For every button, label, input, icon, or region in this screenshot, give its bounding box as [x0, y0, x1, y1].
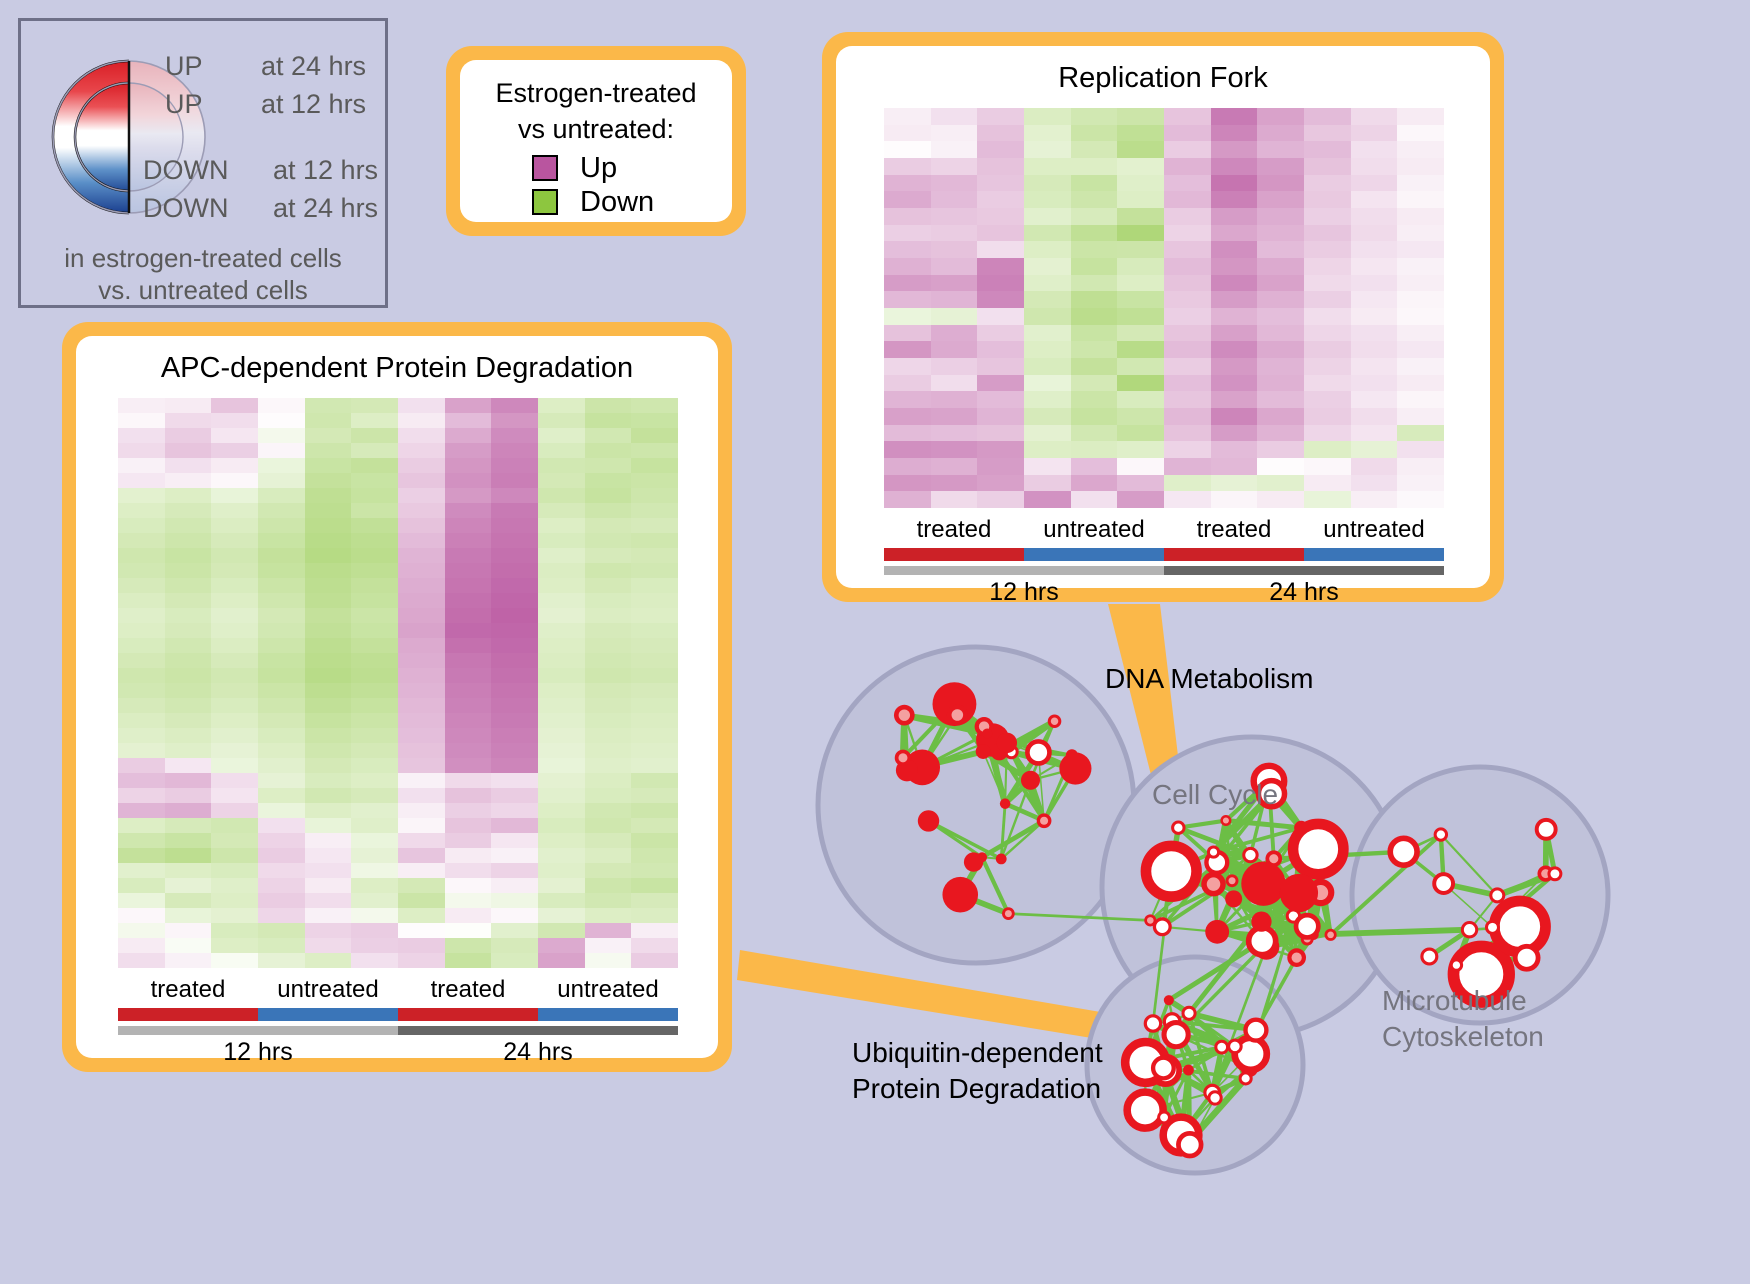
heatmap-cell: [351, 653, 398, 668]
network-node-group: [1390, 838, 1417, 865]
network-node: [1491, 889, 1504, 902]
heatmap-cell: [1071, 408, 1118, 425]
replication-fork-time-labels: 12 hrs 24 hrs: [884, 578, 1444, 607]
heatmap-cell: [1351, 158, 1398, 175]
heatmap-cell: [445, 653, 492, 668]
heatmap-cell: [1117, 175, 1164, 192]
heatmap-cell: [1117, 225, 1164, 242]
heatmap-cell: [1351, 241, 1398, 258]
heatmap-cell: [305, 728, 352, 743]
heatmap-cell: [585, 908, 632, 923]
heatmap-cell: [1164, 225, 1211, 242]
heatmap-cell: [351, 398, 398, 413]
network-node-group: [1048, 714, 1062, 728]
heatmap-cell: [258, 878, 305, 893]
heatmap-cell: [1071, 341, 1118, 358]
heatmap-cell: [258, 488, 305, 503]
heatmap-cell: [398, 668, 445, 683]
network-node: [1183, 1007, 1195, 1019]
heatmap-cell: [631, 518, 678, 533]
heatmap-cell: [398, 743, 445, 758]
heatmap-cell: [398, 728, 445, 743]
apc-bar-treated-12: [118, 1008, 258, 1021]
heatmap-cell: [1071, 475, 1118, 492]
network-node-group: [947, 704, 968, 725]
heatmap-cell: [631, 743, 678, 758]
heatmap-cell: [585, 863, 632, 878]
heatmap-cell: [398, 638, 445, 653]
cluster-label-dna-metabolism: DNA Metabolism: [1105, 663, 1314, 695]
heatmap-cell: [258, 413, 305, 428]
heatmap-cell: [211, 563, 258, 578]
network-node-group: [1422, 949, 1437, 964]
heatmap-cell: [1117, 241, 1164, 258]
network-node: [1451, 960, 1461, 970]
network-node-core: [1005, 910, 1012, 917]
heatmap-cell: [491, 893, 538, 908]
heatmap-cell: [118, 638, 165, 653]
heatmap-cell: [1071, 358, 1118, 375]
heatmap-cell: [1164, 491, 1211, 508]
heatmap-cell: [1351, 391, 1398, 408]
heatmap-cell: [977, 275, 1024, 292]
heatmap-cell: [538, 563, 585, 578]
heatmap-cell: [258, 743, 305, 758]
heatmap-cell: [1164, 308, 1211, 325]
heatmap-cell: [398, 938, 445, 953]
heatmap-cell: [884, 275, 931, 292]
heatmap-cell: [585, 923, 632, 938]
heatmap-cell: [118, 758, 165, 773]
network-node-group: [1159, 1112, 1170, 1123]
network-node-group: [894, 705, 915, 726]
heatmap-cell: [1024, 125, 1071, 142]
heatmap-cell: [1304, 258, 1351, 275]
heatmap-cell: [1164, 375, 1211, 392]
heatmap-cell: [1397, 175, 1444, 192]
network-node-group: [1000, 798, 1011, 809]
heatmap-cell: [1164, 341, 1211, 358]
heatmap-cell: [445, 848, 492, 863]
heatmap-cell: [398, 593, 445, 608]
key-row-0-label: UP: [165, 51, 203, 82]
heatmap-cell: [351, 593, 398, 608]
heatmap-cell: [1164, 458, 1211, 475]
heatmap-cell: [491, 908, 538, 923]
heatmap-cell: [585, 893, 632, 908]
network-node: [1293, 824, 1343, 874]
heatmap-cell: [165, 458, 212, 473]
heatmap-cell: [931, 241, 978, 258]
heatmap-cell: [1257, 275, 1304, 292]
network-node: [1159, 1112, 1170, 1123]
heatmap-cell: [631, 848, 678, 863]
heatmap-cell: [977, 158, 1024, 175]
rf-timebar-12: [884, 566, 1164, 575]
network-node-group: [1225, 890, 1242, 907]
heatmap-cell: [977, 425, 1024, 442]
heatmap-cell: [211, 833, 258, 848]
heatmap-cell: [977, 191, 1024, 208]
heatmap-cell: [211, 593, 258, 608]
heatmap-cell: [931, 408, 978, 425]
heatmap-cell: [398, 833, 445, 848]
key-row-2-time: at 12 hrs: [273, 155, 378, 186]
heatmap-cell: [1024, 408, 1071, 425]
heatmap-cell: [211, 413, 258, 428]
heatmap-cell: [538, 398, 585, 413]
network-node-group: [1494, 901, 1545, 952]
heatmap-cell: [585, 713, 632, 728]
heatmap-cell: [585, 788, 632, 803]
heatmap-cell: [1351, 425, 1398, 442]
network-node: [996, 853, 1007, 864]
heatmap-cell: [211, 488, 258, 503]
heatmap-cell: [211, 773, 258, 788]
heatmap-cell: [211, 743, 258, 758]
heatmap-cell: [305, 668, 352, 683]
heatmap-cell: [631, 668, 678, 683]
network-node-group: [1435, 829, 1446, 840]
network-node-core: [898, 753, 907, 762]
key-row-2-label: DOWN: [143, 155, 228, 186]
heatmap-cell: [258, 683, 305, 698]
network-node: [1173, 822, 1184, 833]
heatmap-cell: [1397, 475, 1444, 492]
heatmap-cell: [258, 458, 305, 473]
heatmap-cell: [538, 743, 585, 758]
heatmap-cell: [165, 623, 212, 638]
heatmap-cell: [165, 758, 212, 773]
network-node: [1127, 1092, 1163, 1128]
heatmap-cell: [884, 408, 931, 425]
network-node-group: [1296, 915, 1318, 937]
heatmap-cell: [305, 458, 352, 473]
heatmap-cell: [1071, 308, 1118, 325]
heatmap-cell: [1117, 425, 1164, 442]
heatmap-cell: [398, 533, 445, 548]
heatmap-cell: [491, 413, 538, 428]
heatmap-cell: [1304, 458, 1351, 475]
heatmap-cell: [258, 428, 305, 443]
heatmap-cell: [884, 341, 931, 358]
heatmap-cell: [118, 428, 165, 443]
network-node: [1462, 923, 1476, 937]
heatmap-cell: [305, 488, 352, 503]
heatmap-cell: [1397, 375, 1444, 392]
heatmap-cell: [585, 938, 632, 953]
heatmap-cell: [1024, 358, 1071, 375]
heatmap-cell: [1257, 108, 1304, 125]
heatmap-cell: [1304, 108, 1351, 125]
heatmap-cell: [1304, 275, 1351, 292]
heatmap-cell: [1071, 258, 1118, 275]
heatmap-cell: [631, 698, 678, 713]
heatmap-cell: [1304, 125, 1351, 142]
heatmap-cell: [931, 275, 978, 292]
heatmap-cell: [1024, 275, 1071, 292]
heatmap-cell: [977, 375, 1024, 392]
heatmap-cell: [398, 758, 445, 773]
heatmap-cell: [1397, 141, 1444, 158]
heatmap-cell: [211, 878, 258, 893]
heatmap-cell: [305, 578, 352, 593]
heatmap-cell: [118, 743, 165, 758]
heatmap-cell: [165, 833, 212, 848]
heatmap-cell: [491, 578, 538, 593]
heatmap-cell: [165, 728, 212, 743]
heatmap-cell: [165, 773, 212, 788]
heatmap-cell: [1397, 408, 1444, 425]
heatmap-cell: [1351, 358, 1398, 375]
heatmap-cell: [538, 728, 585, 743]
heatmap-cell: [305, 548, 352, 563]
heatmap-cell: [1351, 258, 1398, 275]
heatmap-cell: [305, 698, 352, 713]
heatmap-cell: [884, 441, 931, 458]
heatmap-cell: [1117, 141, 1164, 158]
heatmap-cell: [118, 518, 165, 533]
rf-bar-treated-12: [884, 548, 1024, 561]
heatmap-cell: [1257, 291, 1304, 308]
network-node-group: [1245, 1020, 1266, 1041]
heatmap-cell: [1164, 175, 1211, 192]
heatmap-cell: [977, 258, 1024, 275]
cluster-label-ubiquitin-line2: Protein Degradation: [852, 1073, 1101, 1105]
heatmap-cell: [211, 863, 258, 878]
heatmap-cell: [538, 893, 585, 908]
heatmap-cell: [1304, 358, 1351, 375]
heatmap-cell: [258, 953, 305, 968]
heatmap-cell: [585, 833, 632, 848]
heatmap-cell: [491, 563, 538, 578]
heatmap-cell: [398, 623, 445, 638]
heatmap-cell: [305, 908, 352, 923]
heatmap-cell: [1397, 425, 1444, 442]
heatmap-cell: [931, 475, 978, 492]
network-node: [1205, 920, 1229, 944]
heatmap-cell: [491, 938, 538, 953]
rf-bar-untreated-24: [1304, 548, 1444, 561]
heatmap-cell: [211, 938, 258, 953]
network-node-group: [976, 744, 991, 759]
heatmap-cell: [305, 743, 352, 758]
heatmap-cell: [491, 443, 538, 458]
network-node: [1183, 1065, 1194, 1076]
estrogen-legend-title-line1: Estrogen-treated: [460, 78, 732, 109]
heatmap-cell: [585, 563, 632, 578]
heatmap-cell: [351, 788, 398, 803]
network-node-group: [1127, 1092, 1163, 1128]
apc-group-label-3: untreated: [538, 976, 678, 1004]
apc-group-label-1: untreated: [258, 976, 398, 1004]
heatmap-cell: [631, 503, 678, 518]
heatmap-cell: [118, 533, 165, 548]
heatmap-cell: [1024, 291, 1071, 308]
network-node-core: [1207, 877, 1220, 890]
network-node-core: [899, 709, 910, 720]
network-node-group: [1209, 1092, 1221, 1104]
cluster-label-cell-cycle: Cell Cycle: [1152, 779, 1278, 811]
heatmap-cell: [585, 443, 632, 458]
heatmap-cell: [351, 683, 398, 698]
network-node-group: [1462, 923, 1476, 937]
heatmap-cell: [398, 698, 445, 713]
heatmap-cell: [118, 488, 165, 503]
heatmap-cell: [1397, 208, 1444, 225]
rf-bar-treated-24: [1164, 548, 1304, 561]
heatmap-cell: [1397, 458, 1444, 475]
heatmap-cell: [1024, 425, 1071, 442]
heatmap-cell: [165, 593, 212, 608]
rf-group-label-3: untreated: [1304, 516, 1444, 544]
network-node-group: [1240, 1073, 1251, 1084]
heatmap-cell: [445, 953, 492, 968]
heatmap-cell: [211, 848, 258, 863]
heatmap-cell: [538, 533, 585, 548]
heatmap-cell: [398, 683, 445, 698]
apc-time-labels: 12 hrs 24 hrs: [118, 1038, 678, 1067]
heatmap-cell: [1117, 258, 1164, 275]
network-node-group: [1002, 907, 1015, 920]
heatmap-cell: [585, 428, 632, 443]
heatmap-cell: [538, 443, 585, 458]
heatmap-cell: [118, 563, 165, 578]
heatmap-cell: [305, 953, 352, 968]
heatmap-cell: [1071, 175, 1118, 192]
heatmap-cell: [398, 578, 445, 593]
heatmap-cell: [445, 488, 492, 503]
heatmap-cell: [1164, 358, 1211, 375]
heatmap-cell: [931, 258, 978, 275]
heatmap-cell: [351, 638, 398, 653]
network-node-group: [1229, 1040, 1242, 1053]
heatmap-cell: [585, 548, 632, 563]
heatmap-cell: [977, 458, 1024, 475]
heatmap-cell: [165, 848, 212, 863]
heatmap-cell: [305, 683, 352, 698]
heatmap-cell: [118, 698, 165, 713]
cluster-label-microtubule-line1: Microtubule: [1382, 985, 1527, 1017]
heatmap-cell: [258, 728, 305, 743]
heatmap-cell: [445, 473, 492, 488]
network-node: [1145, 1016, 1160, 1031]
heatmap-cell: [118, 728, 165, 743]
heatmap-cell: [1117, 125, 1164, 142]
heatmap-cell: [491, 488, 538, 503]
network-node: [997, 733, 1017, 753]
heatmap-cell: [884, 225, 931, 242]
heatmap-cell: [258, 563, 305, 578]
heatmap-cell: [1211, 175, 1258, 192]
heatmap-cell: [1211, 141, 1258, 158]
network-node: [1390, 838, 1417, 865]
heatmap-cell: [884, 491, 931, 508]
heatmap-cell: [1071, 491, 1118, 508]
heatmap-cell: [258, 848, 305, 863]
network-node-core: [1229, 877, 1236, 884]
key-row-1-label: UP: [165, 89, 203, 120]
heatmap-cell: [884, 258, 931, 275]
heatmap-cell: [1397, 258, 1444, 275]
heatmap-cell: [305, 848, 352, 863]
apc-time-label-24: 24 hrs: [398, 1038, 678, 1067]
heatmap-cell: [1071, 141, 1118, 158]
heatmap-cell: [118, 863, 165, 878]
heatmap-cell: [305, 758, 352, 773]
apc-treatment-bar: [118, 1008, 678, 1021]
heatmap-cell: [631, 923, 678, 938]
heatmap-cell: [631, 773, 678, 788]
apc-time-label-12: 12 hrs: [118, 1038, 398, 1067]
network-node-group: [1434, 874, 1453, 893]
heatmap-cell: [1117, 158, 1164, 175]
heatmap-cell: [1211, 191, 1258, 208]
heatmap-cell: [118, 623, 165, 638]
heatmap-cell: [445, 518, 492, 533]
heatmap-cell: [258, 533, 305, 548]
heatmap-cell: [118, 878, 165, 893]
heatmap-cell: [1211, 491, 1258, 508]
heatmap-cell: [211, 428, 258, 443]
heatmap-cell: [445, 413, 492, 428]
heatmap-cell: [211, 788, 258, 803]
heatmap-cell: [631, 683, 678, 698]
heatmap-cell: [1164, 108, 1211, 125]
heatmap-cell: [491, 428, 538, 443]
heatmap-cell: [491, 668, 538, 683]
heatmap-cell: [1024, 241, 1071, 258]
heatmap-cell: [1397, 108, 1444, 125]
heatmap-cell: [351, 713, 398, 728]
heatmap-cell: [445, 893, 492, 908]
heatmap-cell: [445, 608, 492, 623]
heatmap-cell: [491, 863, 538, 878]
heatmap-cell: [585, 593, 632, 608]
heatmap-cell: [118, 443, 165, 458]
heatmap-cell: [631, 818, 678, 833]
heatmap-cell: [258, 473, 305, 488]
heatmap-cell: [118, 578, 165, 593]
network-node-group: [918, 810, 939, 831]
network-node: [1216, 1041, 1228, 1053]
heatmap-cell: [1397, 291, 1444, 308]
network-node-core: [1147, 917, 1154, 924]
heatmap-cell: [211, 818, 258, 833]
heatmap-cell: [258, 503, 305, 518]
network-node: [1208, 847, 1218, 857]
heatmap-cell: [118, 908, 165, 923]
heatmap-cell: [258, 698, 305, 713]
heatmap-cell: [258, 593, 305, 608]
heatmap-cell: [1351, 275, 1398, 292]
estrogen-legend-title-line2: vs untreated:: [460, 114, 732, 145]
heatmap-cell: [931, 325, 978, 342]
heatmap-cell: [305, 713, 352, 728]
heatmap-cell: [211, 908, 258, 923]
heatmap-cell: [258, 623, 305, 638]
heatmap-cell: [1211, 241, 1258, 258]
heatmap-cell: [1164, 258, 1211, 275]
heatmap-cell: [1351, 408, 1398, 425]
heatmap-cell: [398, 428, 445, 443]
heatmap-cell: [165, 548, 212, 563]
heatmap-cell: [631, 713, 678, 728]
heatmap-cell: [165, 668, 212, 683]
heatmap-cell: [1164, 158, 1211, 175]
heatmap-cell: [305, 803, 352, 818]
heatmap-cell: [258, 893, 305, 908]
